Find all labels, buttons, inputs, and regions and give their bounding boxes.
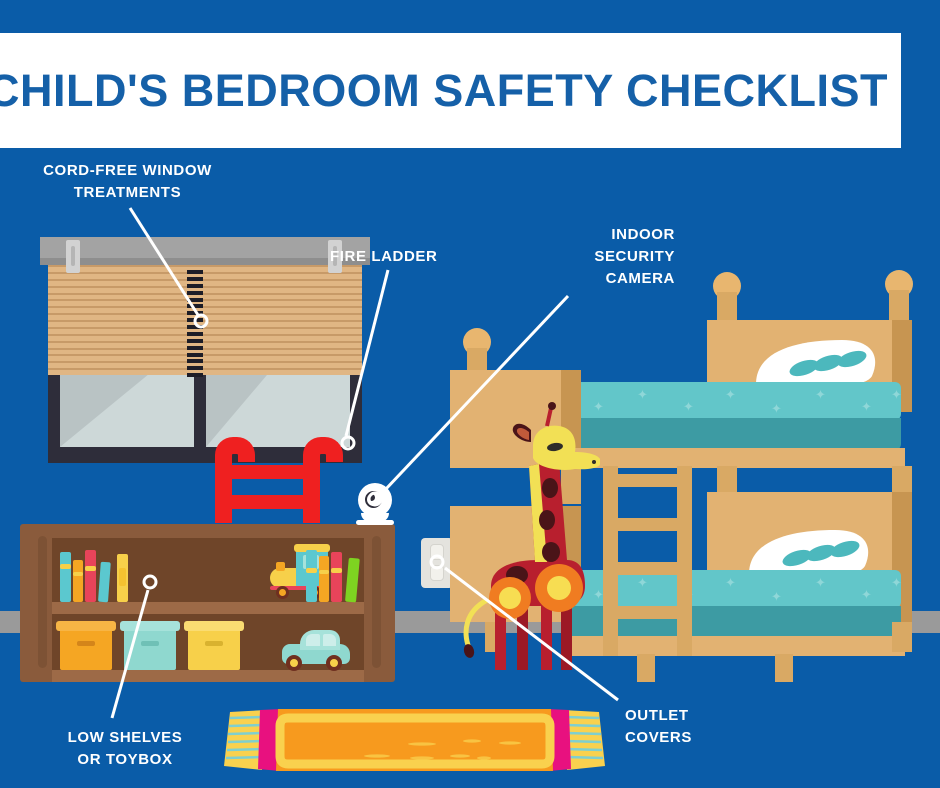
leader-line-outlet: [445, 568, 618, 700]
callout-label-cord-free-window-treatments: CORD-FREE WINDOW TREATMENTS: [0, 160, 255, 204]
leader-dot-outlet: [431, 556, 443, 568]
leader-line-cord-free: [130, 208, 198, 315]
callout-label-outlet-covers: OUTLET COVERS: [625, 705, 825, 749]
leader-line-fire-ladder: [346, 270, 388, 436]
leader-dot-fire-ladder: [342, 437, 354, 449]
leader-line-shelves: [112, 590, 148, 718]
infographic-canvas: CHILD'S BEDROOM SAFETY CHECKLIST /*slats…: [0, 0, 940, 788]
callout-label-indoor-security-camera: INDOOR SECURITY CAMERA: [470, 224, 675, 290]
callout-leader-lines: [0, 0, 940, 788]
callout-label-low-shelves-or-toybox: LOW SHELVES OR TOYBOX: [0, 727, 250, 771]
leader-dot-shelves: [144, 576, 156, 588]
leader-dot-cord-free: [195, 315, 207, 327]
leader-line-camera: [385, 296, 568, 490]
leader-dot-camera: [369, 493, 381, 505]
